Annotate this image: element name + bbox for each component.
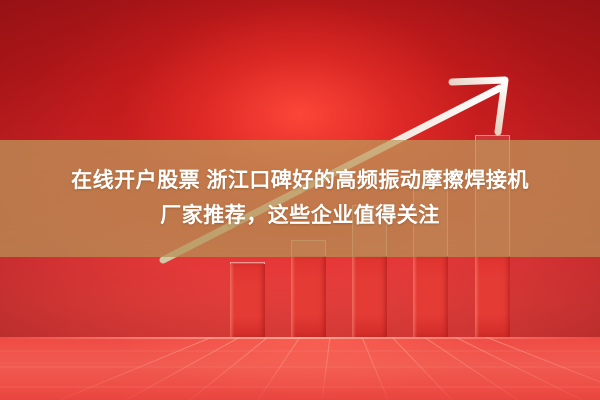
bar-4-fill xyxy=(413,256,448,337)
banner-image: 在线开户股票 浙江口碑好的高频振动摩擦焊接机 厂家推荐，这些企业值得关注 xyxy=(0,0,600,400)
bar-1-fill xyxy=(230,264,265,337)
bar-2-fill xyxy=(291,256,326,337)
bar-5-fill xyxy=(475,256,510,337)
bar-3-fill xyxy=(352,256,387,337)
headline-line-2: 厂家推荐，这些企业值得关注 xyxy=(160,202,440,230)
headline-line-1: 在线开户股票 浙江口碑好的高频振动摩擦焊接机 xyxy=(71,167,529,195)
caption-text-block: 在线开户股票 浙江口碑好的高频振动摩擦焊接机 厂家推荐，这些企业值得关注 xyxy=(0,140,600,257)
bar-1 xyxy=(230,262,265,337)
